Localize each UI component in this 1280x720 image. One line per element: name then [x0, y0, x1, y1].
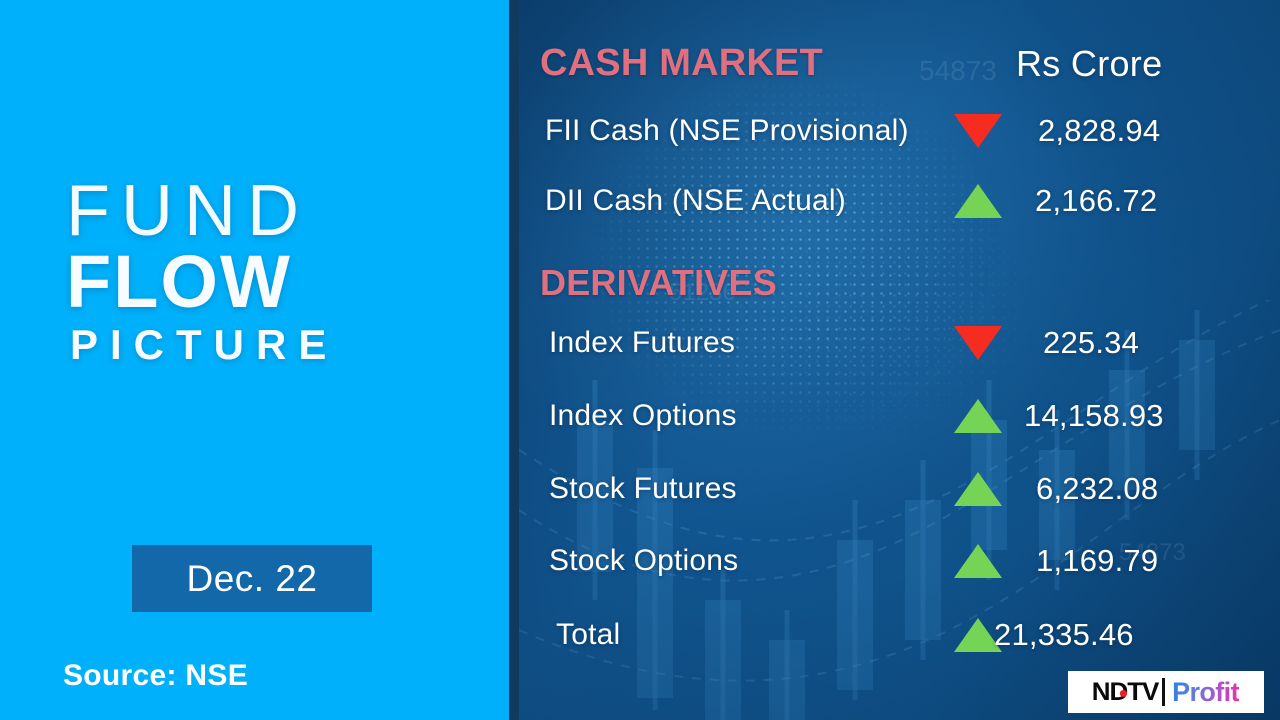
source-label: Source: NSE	[63, 659, 248, 693]
row-value: 1,169.79	[1036, 543, 1158, 579]
section-heading-derivatives: DERIVATIVES	[540, 262, 777, 304]
up-arrow-icon	[954, 472, 1002, 506]
row-label: Total	[556, 618, 620, 652]
row-value: 14,158.93	[1024, 398, 1164, 434]
row-value: 2,166.72	[1035, 183, 1157, 219]
ndtv-profit-logo: NDTV Profit	[1068, 671, 1264, 713]
up-arrow-icon	[954, 399, 1002, 433]
row-value: 2,828.94	[1038, 113, 1160, 149]
fund-flow-graphic: 54873 54873 51236 54873 CASH MARKET Rs C…	[0, 0, 1280, 720]
row-label: Stock Futures	[549, 472, 737, 506]
logo-red-dot-icon	[1120, 690, 1127, 697]
up-arrow-icon	[954, 184, 1002, 218]
brand-title: FUND FLOW PICTURE	[0, 178, 509, 370]
down-arrow-icon	[954, 114, 1002, 148]
brand-line-flow: FLOW	[66, 245, 509, 319]
down-arrow-icon	[954, 326, 1002, 360]
row-label: Stock Options	[549, 544, 738, 578]
logo-profit-label: Profit	[1172, 677, 1239, 708]
row-label: Index Futures	[549, 326, 735, 360]
section-heading-cash-market: CASH MARKET	[540, 42, 823, 85]
brand-line-fund: FUND	[66, 178, 509, 245]
row-value: 6,232.08	[1036, 471, 1158, 507]
row-label: DII Cash (NSE Actual)	[545, 184, 846, 218]
date-badge-label: Dec. 22	[186, 558, 317, 600]
branding-panel: FUND FLOW PICTURE Dec. 22 Source: NSE	[0, 0, 509, 720]
row-value: 225.34	[1043, 325, 1139, 361]
logo-ndtv-text: NDTV	[1092, 678, 1159, 707]
brand-line-picture: PICTURE	[66, 319, 509, 370]
row-value: 21,335.46	[994, 617, 1134, 653]
units-label: Rs Crore	[1016, 43, 1162, 85]
logo-separator-bar	[1162, 678, 1165, 706]
date-badge: Dec. 22	[132, 545, 372, 612]
row-label: Index Options	[549, 399, 737, 433]
panel-divider	[509, 0, 519, 720]
row-label: FII Cash (NSE Provisional)	[545, 114, 909, 148]
up-arrow-icon	[954, 544, 1002, 578]
